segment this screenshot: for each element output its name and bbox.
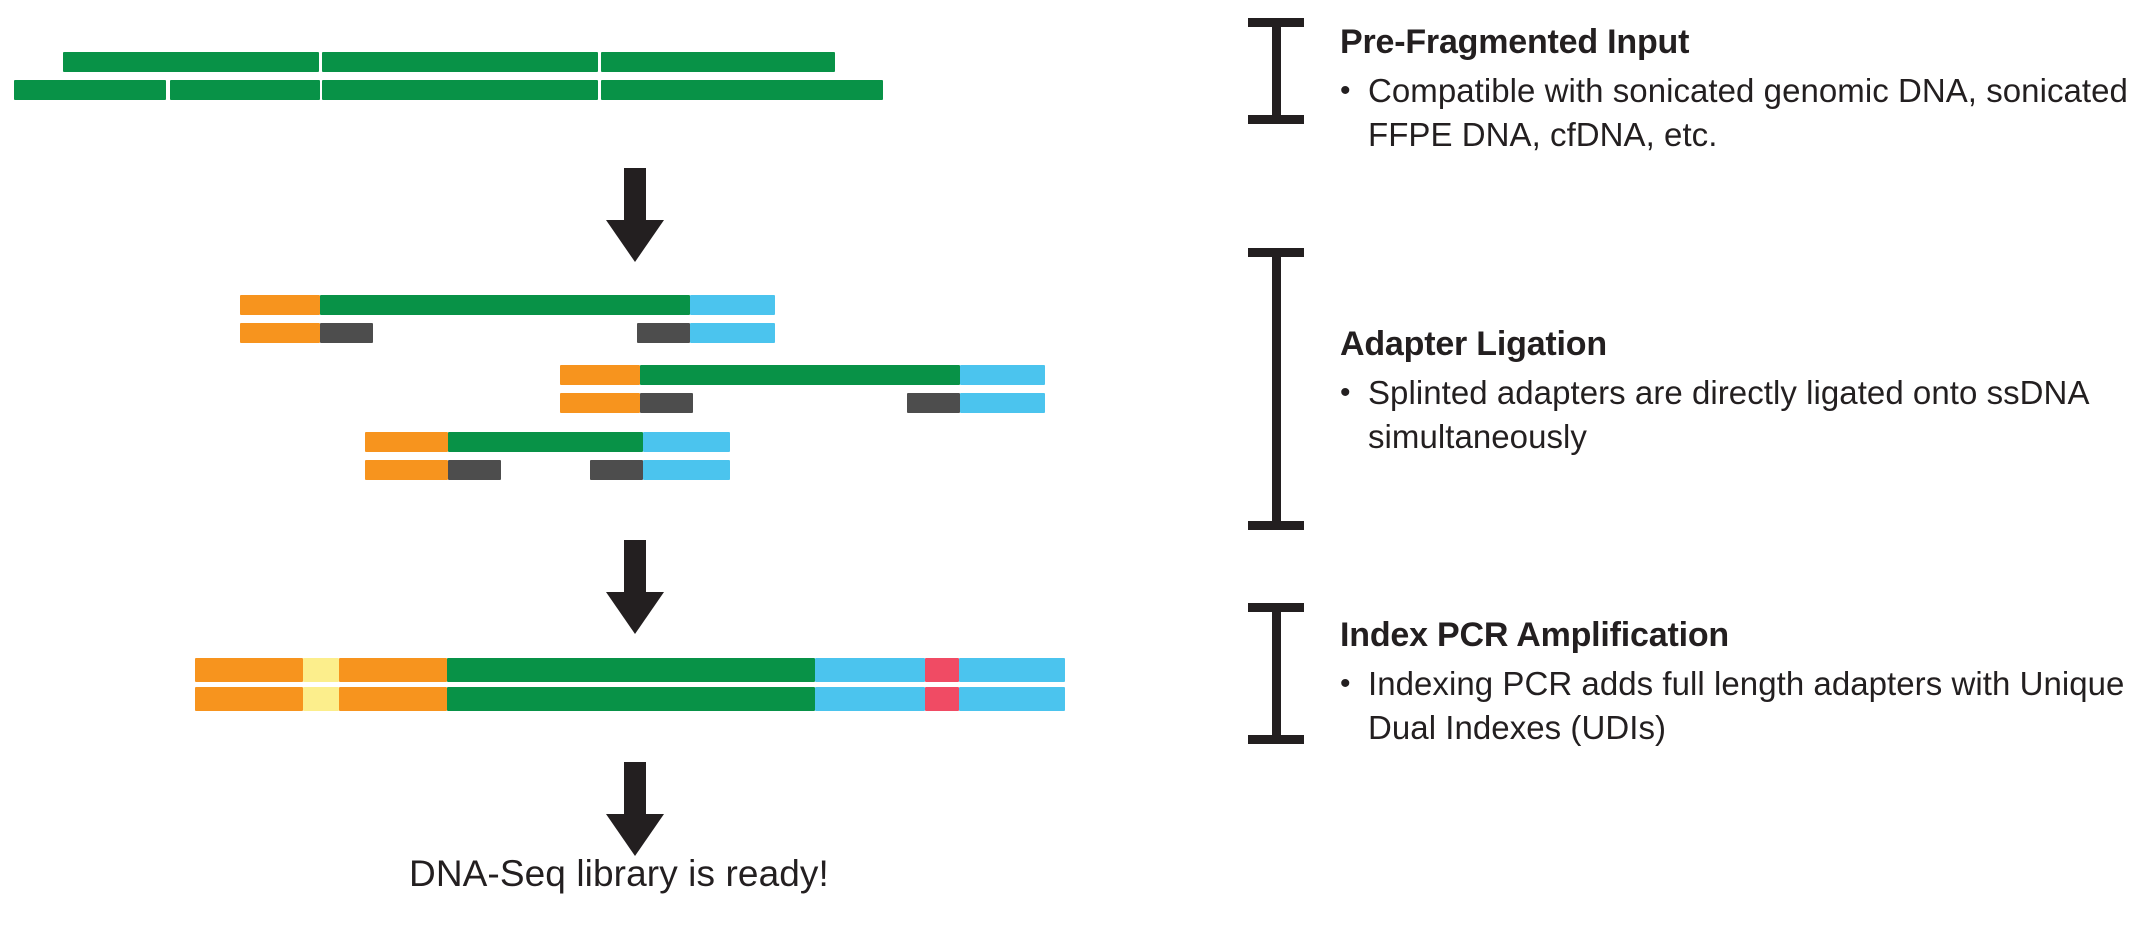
arrow-shaft [624, 168, 646, 224]
construct1-bottom-gray-3 [637, 323, 690, 343]
library-top-orange-1 [195, 658, 303, 682]
dna-fragment-bottom-1 [14, 80, 166, 100]
step-bullet-text: Compatible with sonicated genomic DNA, s… [1368, 69, 2140, 157]
construct3-top-blue-3 [643, 432, 730, 452]
library-top-blue-5 [815, 658, 925, 682]
dna-fragment-top-2 [322, 52, 598, 72]
step-title: Index PCR Amplification [1340, 617, 2140, 654]
bullet-dot-icon: • [1340, 662, 1368, 706]
bracket-stem [1272, 248, 1281, 530]
construct1-bottom-blue-4 [690, 323, 775, 343]
bracket-stem [1272, 603, 1281, 744]
construct1-top-green-2 [320, 295, 690, 315]
construct2-bottom-gray-2 [640, 393, 693, 413]
library-bottom-blue-5 [815, 687, 925, 711]
library-bottom-yellow-2 [303, 687, 339, 711]
construct2-top-green-2 [640, 365, 960, 385]
library-bottom-blue-7 [959, 687, 1065, 711]
construct1-bottom-orange-1 [240, 323, 320, 343]
bracket-cap-bottom [1248, 735, 1304, 744]
construct3-top-green-2 [448, 432, 643, 452]
library-bottom-green-4 [447, 687, 815, 711]
step-bullet: • Splinted adapters are directly ligated… [1340, 371, 2140, 459]
dna-fragment-bottom-3 [322, 80, 598, 100]
arrow-head [606, 814, 664, 856]
construct2-top-orange-1 [560, 365, 640, 385]
step-bullet: • Compatible with sonicated genomic DNA,… [1340, 69, 2140, 157]
arrow-to-library-icon [606, 762, 664, 856]
construct1-top-blue-3 [690, 295, 775, 315]
library-bottom-orange-1 [195, 687, 303, 711]
step-bullet: • Indexing PCR adds full length adapters… [1340, 662, 2140, 750]
arrow-head [606, 592, 664, 634]
dna-fragment-bottom-2 [170, 80, 320, 100]
bullet-dot-icon: • [1340, 371, 1368, 415]
step-bullet-text: Splinted adapters are directly ligated o… [1368, 371, 2140, 459]
construct3-bottom-blue-4 [643, 460, 730, 480]
arrow-to-ligation-icon [606, 168, 664, 262]
figure-caption: DNA-Seq library is ready! [409, 853, 829, 895]
construct1-top-orange-1 [240, 295, 320, 315]
step-bullet-text: Indexing PCR adds full length adapters w… [1368, 662, 2140, 750]
bracket-cap-bottom [1248, 521, 1304, 530]
library-top-pink-6 [925, 658, 959, 682]
dna-fragment-top-1 [63, 52, 319, 72]
bracket-icon [1248, 248, 1304, 530]
construct3-top-orange-1 [365, 432, 448, 452]
figure-canvas: Pre-Fragmented Input • Compatible with s… [0, 0, 2143, 933]
library-bottom-orange-3 [339, 687, 447, 711]
construct2-bottom-blue-4 [960, 393, 1045, 413]
library-bottom-pink-6 [925, 687, 959, 711]
step-title: Adapter Ligation [1340, 326, 2140, 363]
bracket-icon [1248, 18, 1304, 124]
construct2-bottom-orange-1 [560, 393, 640, 413]
dna-fragment-top-3 [601, 52, 835, 72]
construct2-top-blue-3 [960, 365, 1045, 385]
bracket-cap-bottom [1248, 115, 1304, 124]
arrow-head [606, 220, 664, 262]
library-top-green-4 [447, 658, 815, 682]
step-title: Pre-Fragmented Input [1340, 24, 2140, 61]
construct3-bottom-gray-2 [448, 460, 501, 480]
construct1-bottom-gray-2 [320, 323, 373, 343]
library-top-yellow-2 [303, 658, 339, 682]
arrow-to-pcr-icon [606, 540, 664, 634]
bracket-stem [1272, 18, 1281, 124]
bracket-icon [1248, 603, 1304, 744]
library-top-blue-7 [959, 658, 1065, 682]
construct3-bottom-gray-3 [590, 460, 643, 480]
arrow-shaft [624, 540, 646, 596]
construct3-bottom-orange-1 [365, 460, 448, 480]
arrow-shaft [624, 762, 646, 818]
dna-fragment-bottom-4 [601, 80, 883, 100]
bullet-dot-icon: • [1340, 69, 1368, 113]
library-top-orange-3 [339, 658, 447, 682]
construct2-bottom-gray-3 [907, 393, 960, 413]
